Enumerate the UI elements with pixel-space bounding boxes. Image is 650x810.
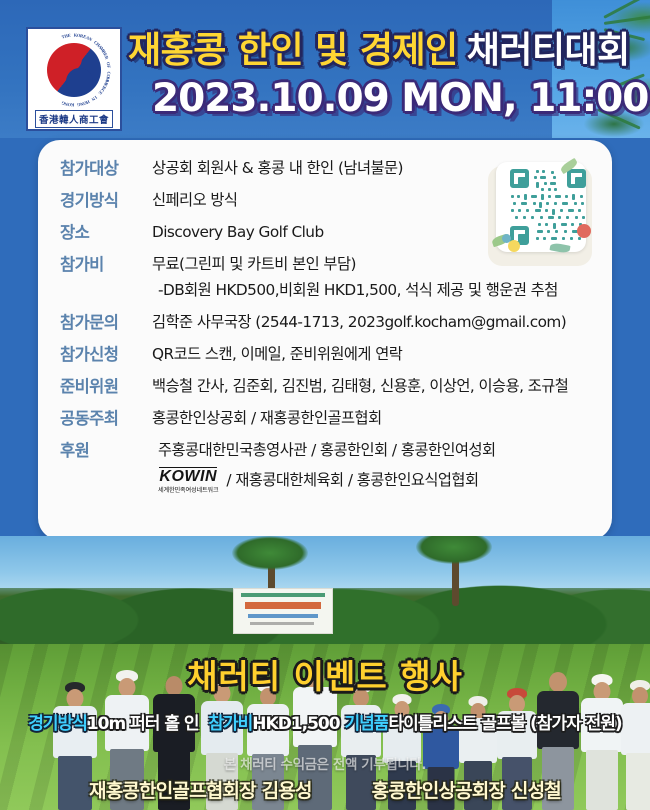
event-detail-label: 기념품 [345, 714, 389, 734]
info-value: 주홍콩대한민국총영사관 / 홍콩한인회 / 홍콩한인여성회 [152, 438, 590, 463]
palm-crown [232, 536, 308, 570]
event-detail-line: 경기방식10m 퍼터 홀 인 참가비HKD1,500 기념품타이틀리스트 골프볼… [0, 716, 650, 733]
signature-row: 재홍콩한인골프협회장 김용성 홍콩한인상공회장 신성철 [0, 776, 650, 803]
donation-note: 본 채러티 수익금은 전액 기부됩니다. [0, 753, 650, 773]
info-value: Discovery Bay Golf Club [152, 220, 590, 245]
info-value: 신페리오 방식 [152, 188, 590, 213]
info-value: QR코드 스캔, 이메일, 준비위원에게 연락 [152, 342, 590, 367]
info-row: 후원 주홍콩대한민국총영사관 / 홍콩한인회 / 홍콩한인여성회 [60, 438, 590, 464]
kccik-emblem: THE KOREAN CHAMBER OF COMMERCE IN HONG K… [26, 27, 122, 131]
photo-event-banner [233, 588, 333, 634]
kowin-logo: KOWIN 세계한민족여성네트워크 [158, 467, 218, 496]
sponsor-line-2: / 재홍콩대한체육회 / 홍콩한인요식업협회 [226, 468, 478, 493]
info-value: 백승철 간사, 김준회, 김진범, 김태형, 신용훈, 이상언, 이승용, 조규… [152, 374, 590, 399]
info-label: 참가대상 [60, 156, 152, 182]
info-card: 참가대상 상공회 회원사 & 홍콩 내 한인 (남녀불문) 경기방식 신페리오 … [38, 140, 612, 540]
info-value: KOWIN 세계한민족여성네트워크 / 재홍콩대한체육회 / 홍콩한인요식업협회 [152, 465, 590, 496]
info-label: 장소 [60, 220, 152, 246]
signature-golf-association: 재홍콩한인골프협회장 김용성 [89, 776, 312, 803]
poster-root: THE KOREAN CHAMBER OF COMMERCE IN HONG K… [0, 0, 650, 810]
emblem-ring-text: THE KOREAN CHAMBER OF COMMERCE IN HONG K… [36, 32, 112, 108]
info-label: 후원 [60, 438, 152, 464]
info-label: 경기방식 [60, 188, 152, 214]
event-date-line: 2023.10.09 MON, 11:00 [152, 74, 650, 122]
event-detail-label: 경기방식 [28, 714, 87, 734]
info-value: -DB회원 HKD500,비회원 HKD1,500, 석식 제공 및 행운권 추… [152, 278, 590, 303]
info-label: 공동주최 [60, 406, 152, 432]
signature-chamber: 홍콩한인상공회장 신성철 [372, 776, 561, 803]
info-row-list: 참가대상 상공회 회원사 & 홍콩 내 한인 (남녀불문) 경기방식 신페리오 … [60, 156, 590, 500]
title-main: 재홍콩 한인 및 경제인 [128, 33, 458, 69]
info-row: 공동주최 홍콩한인상공회 / 재홍콩한인골프협회 [60, 406, 590, 434]
taeguk-icon: THE KOREAN CHAMBER OF COMMERCE IN HONG K… [36, 32, 112, 108]
info-row: 준비위원 백승철 간사, 김준회, 김진범, 김태형, 신용훈, 이상언, 이승… [60, 374, 590, 402]
info-label: 참가신청 [60, 342, 152, 368]
info-value: 무료(그린피 및 카트비 본인 부담) [152, 252, 590, 277]
title-accent: 채러티대회 [467, 33, 630, 69]
event-photo: 채러티 이벤트 행사 경기방식10m 퍼터 홀 인 참가비HKD1,500 기념… [0, 536, 650, 810]
info-value: 김학준 사무국장 (2544-1713, 2023golf.kocham@gma… [152, 310, 590, 335]
event-detail-label: 참가비 [208, 714, 252, 734]
event-detail-value: HKD1,500 [252, 714, 339, 734]
info-value: 홍콩한인상공회 / 재홍콩한인골프협회 [152, 406, 590, 431]
info-label: 참가문의 [60, 310, 152, 336]
kowin-subtitle: 세계한민족여성네트워크 [158, 486, 218, 496]
info-value: 상공회 회원사 & 홍콩 내 한인 (남녀불문) [152, 156, 590, 181]
info-row: 참가문의 김학준 사무국장 (2544-1713, 2023golf.kocha… [60, 310, 590, 338]
event-date: 2023.10.09 MON, 11:00 [152, 79, 648, 118]
poster-title: 재홍콩 한인 및 경제인 채러티대회 [128, 26, 644, 76]
event-detail-value: 10m 퍼터 홀 인 [87, 714, 199, 734]
info-row: 장소 Discovery Bay Golf Club [60, 220, 590, 248]
info-row: 경기방식 신페리오 방식 [60, 188, 590, 216]
info-label: 준비위원 [60, 374, 152, 400]
header-banner: THE KOREAN CHAMBER OF COMMERCE IN HONG K… [0, 0, 650, 138]
info-row: 참가비 무료(그린피 및 카트비 본인 부담) [60, 252, 590, 278]
info-row: 참가대상 상공회 회원사 & 홍콩 내 한인 (남녀불문) [60, 156, 590, 184]
info-row-continuation: -DB회원 HKD500,비회원 HKD1,500, 석식 제공 및 행운권 추… [60, 278, 590, 306]
info-row-sponsor: KOWIN 세계한민족여성네트워크 / 재홍콩대한체육회 / 홍콩한인요식업협회 [60, 465, 590, 496]
info-label: 참가비 [60, 252, 152, 278]
kowin-wordmark: KOWIN [159, 467, 217, 485]
info-row: 참가신청 QR코드 스캔, 이메일, 준비위원에게 연락 [60, 342, 590, 370]
emblem-chinese-name: 香港韓人商工會 [35, 110, 113, 128]
event-detail-value: 타이틀리스트 골프볼 (참가자 전원) [388, 714, 621, 734]
event-section-title: 채러티 이벤트 행사 [0, 660, 650, 693]
